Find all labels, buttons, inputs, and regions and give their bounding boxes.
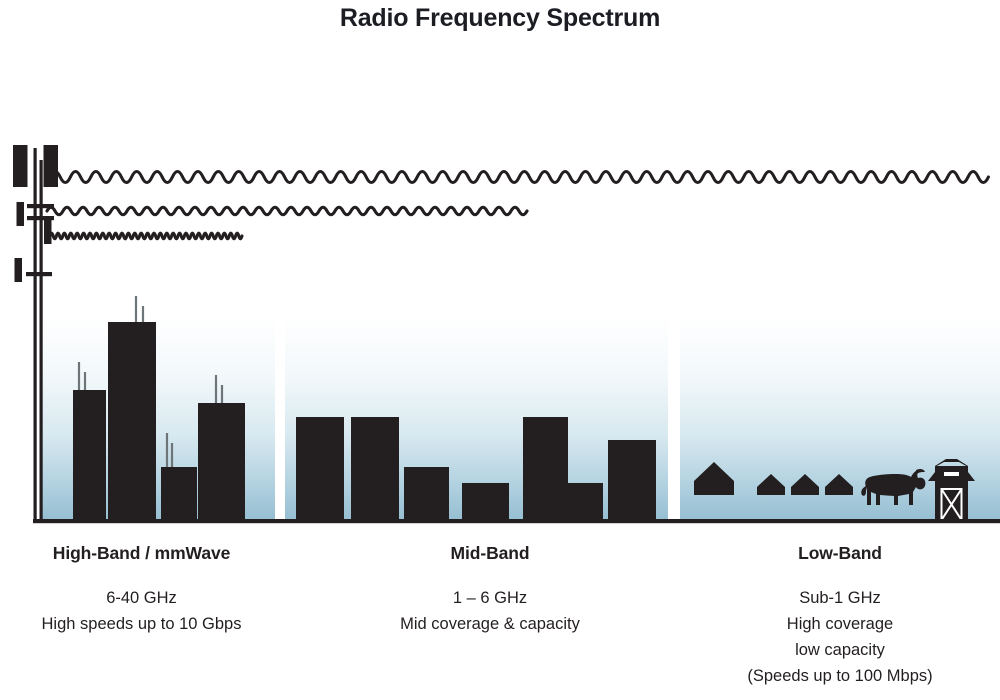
band-frequency-low: Sub-1 GHz <box>680 585 1000 611</box>
band-column-mid: Mid-Band 1 – 6 GHz Mid coverage & capaci… <box>330 543 650 637</box>
band-description-high: 6-40 GHz High speeds up to 10 Gbps <box>0 585 283 637</box>
short-wavelength-wave <box>50 233 242 239</box>
band-column-high: High-Band / mmWave 6-40 GHz High speeds … <box>0 543 283 637</box>
band-captions: High-Band / mmWave 6-40 GHz High speeds … <box>0 543 1000 700</box>
band-description-low: Sub-1 GHz High coverage low capacity (Sp… <box>680 585 1000 689</box>
medium-wavelength-wave <box>47 207 527 214</box>
radio-waves <box>47 172 988 239</box>
ground-line <box>33 519 1000 523</box>
band-description-mid: 1 – 6 GHz Mid coverage & capacity <box>330 585 650 637</box>
long-wavelength-wave <box>50 172 988 183</box>
band-detail-mid-0: Mid coverage & capacity <box>330 611 650 637</box>
band-detail-low-0: High coverage <box>680 611 1000 637</box>
band-title-mid: Mid-Band <box>330 543 650 564</box>
band-detail-low-1: low capacity <box>680 637 1000 663</box>
band-frequency-mid: 1 – 6 GHz <box>330 585 650 611</box>
band-column-low: Low-Band Sub-1 GHz High coverage low cap… <box>680 543 1000 689</box>
band-frequency-high: 6-40 GHz <box>0 585 283 611</box>
band-title-high: High-Band / mmWave <box>0 543 283 564</box>
band-detail-low-2: (Speeds up to 100 Mbps) <box>680 663 1000 689</box>
infographic-canvas: Radio Frequency Spectrum <box>0 0 1000 700</box>
spectrum-illustration <box>0 0 1000 535</box>
barn-icon <box>928 459 975 520</box>
band-title-low: Low-Band <box>680 543 1000 564</box>
band-detail-high-0: High speeds up to 10 Gbps <box>0 611 283 637</box>
